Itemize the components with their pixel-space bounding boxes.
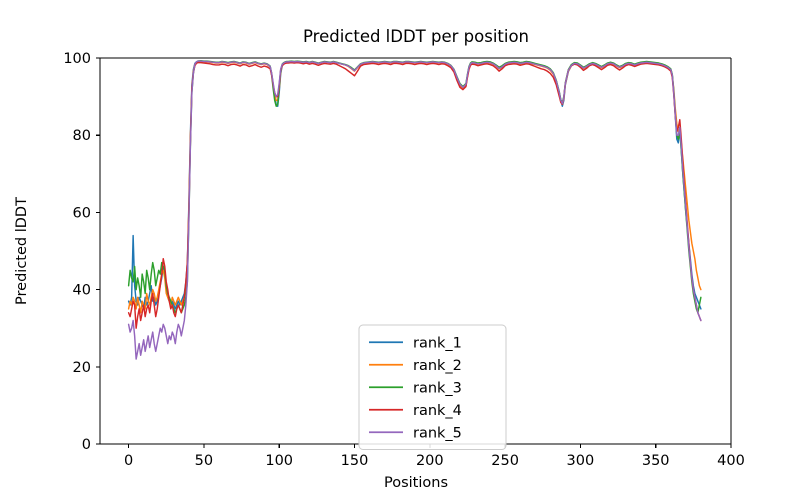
x-tick-label: 350 [642, 453, 670, 469]
chart-title-group: Predicted lDDT per position [303, 27, 529, 46]
series-line-rank_3 [129, 61, 701, 313]
legend-label-rank_2[interactable]: rank_2 [413, 358, 462, 374]
y-axis-label: Predicted lDDT [14, 197, 30, 305]
series-line-rank_5 [129, 61, 701, 359]
x-axis-label: Positions [384, 475, 448, 491]
chart-legend[interactable]: rank_1rank_2rank_3rank_4rank_5 [359, 325, 506, 450]
y-tick-label: 0 [82, 437, 91, 453]
y-tick-label: 20 [73, 360, 91, 376]
series-line-rank_4 [129, 63, 701, 329]
line-chart: Predicted lDDT per position 050100150200… [0, 0, 800, 500]
legend-label-rank_4[interactable]: rank_4 [413, 403, 462, 419]
y-tick-label: 60 [73, 205, 91, 221]
series-group [129, 61, 701, 359]
x-tick-label: 150 [341, 453, 369, 469]
legend-label-rank_5[interactable]: rank_5 [413, 425, 462, 441]
x-tick-label: 300 [567, 453, 595, 469]
legend-label-rank_1[interactable]: rank_1 [413, 335, 462, 351]
x-tick-label: 200 [416, 453, 444, 469]
x-tick-label: 0 [124, 453, 133, 469]
series-line-rank_2 [129, 61, 701, 312]
legend-label-rank_3[interactable]: rank_3 [413, 380, 462, 396]
x-tick-label: 100 [265, 453, 293, 469]
x-tick-label: 50 [195, 453, 213, 469]
x-tick-label: 400 [717, 453, 745, 469]
chart-title: Predicted lDDT per position [303, 27, 529, 46]
y-tick-label: 100 [63, 51, 91, 67]
series-line-rank_1 [129, 61, 701, 309]
matplotlib-figure: Predicted lDDT per position 050100150200… [0, 0, 800, 500]
x-tick-label: 250 [491, 453, 519, 469]
y-tick-label: 40 [73, 283, 91, 299]
y-axis-ticks: 020406080100 [63, 51, 100, 453]
y-tick-label: 80 [73, 128, 91, 144]
